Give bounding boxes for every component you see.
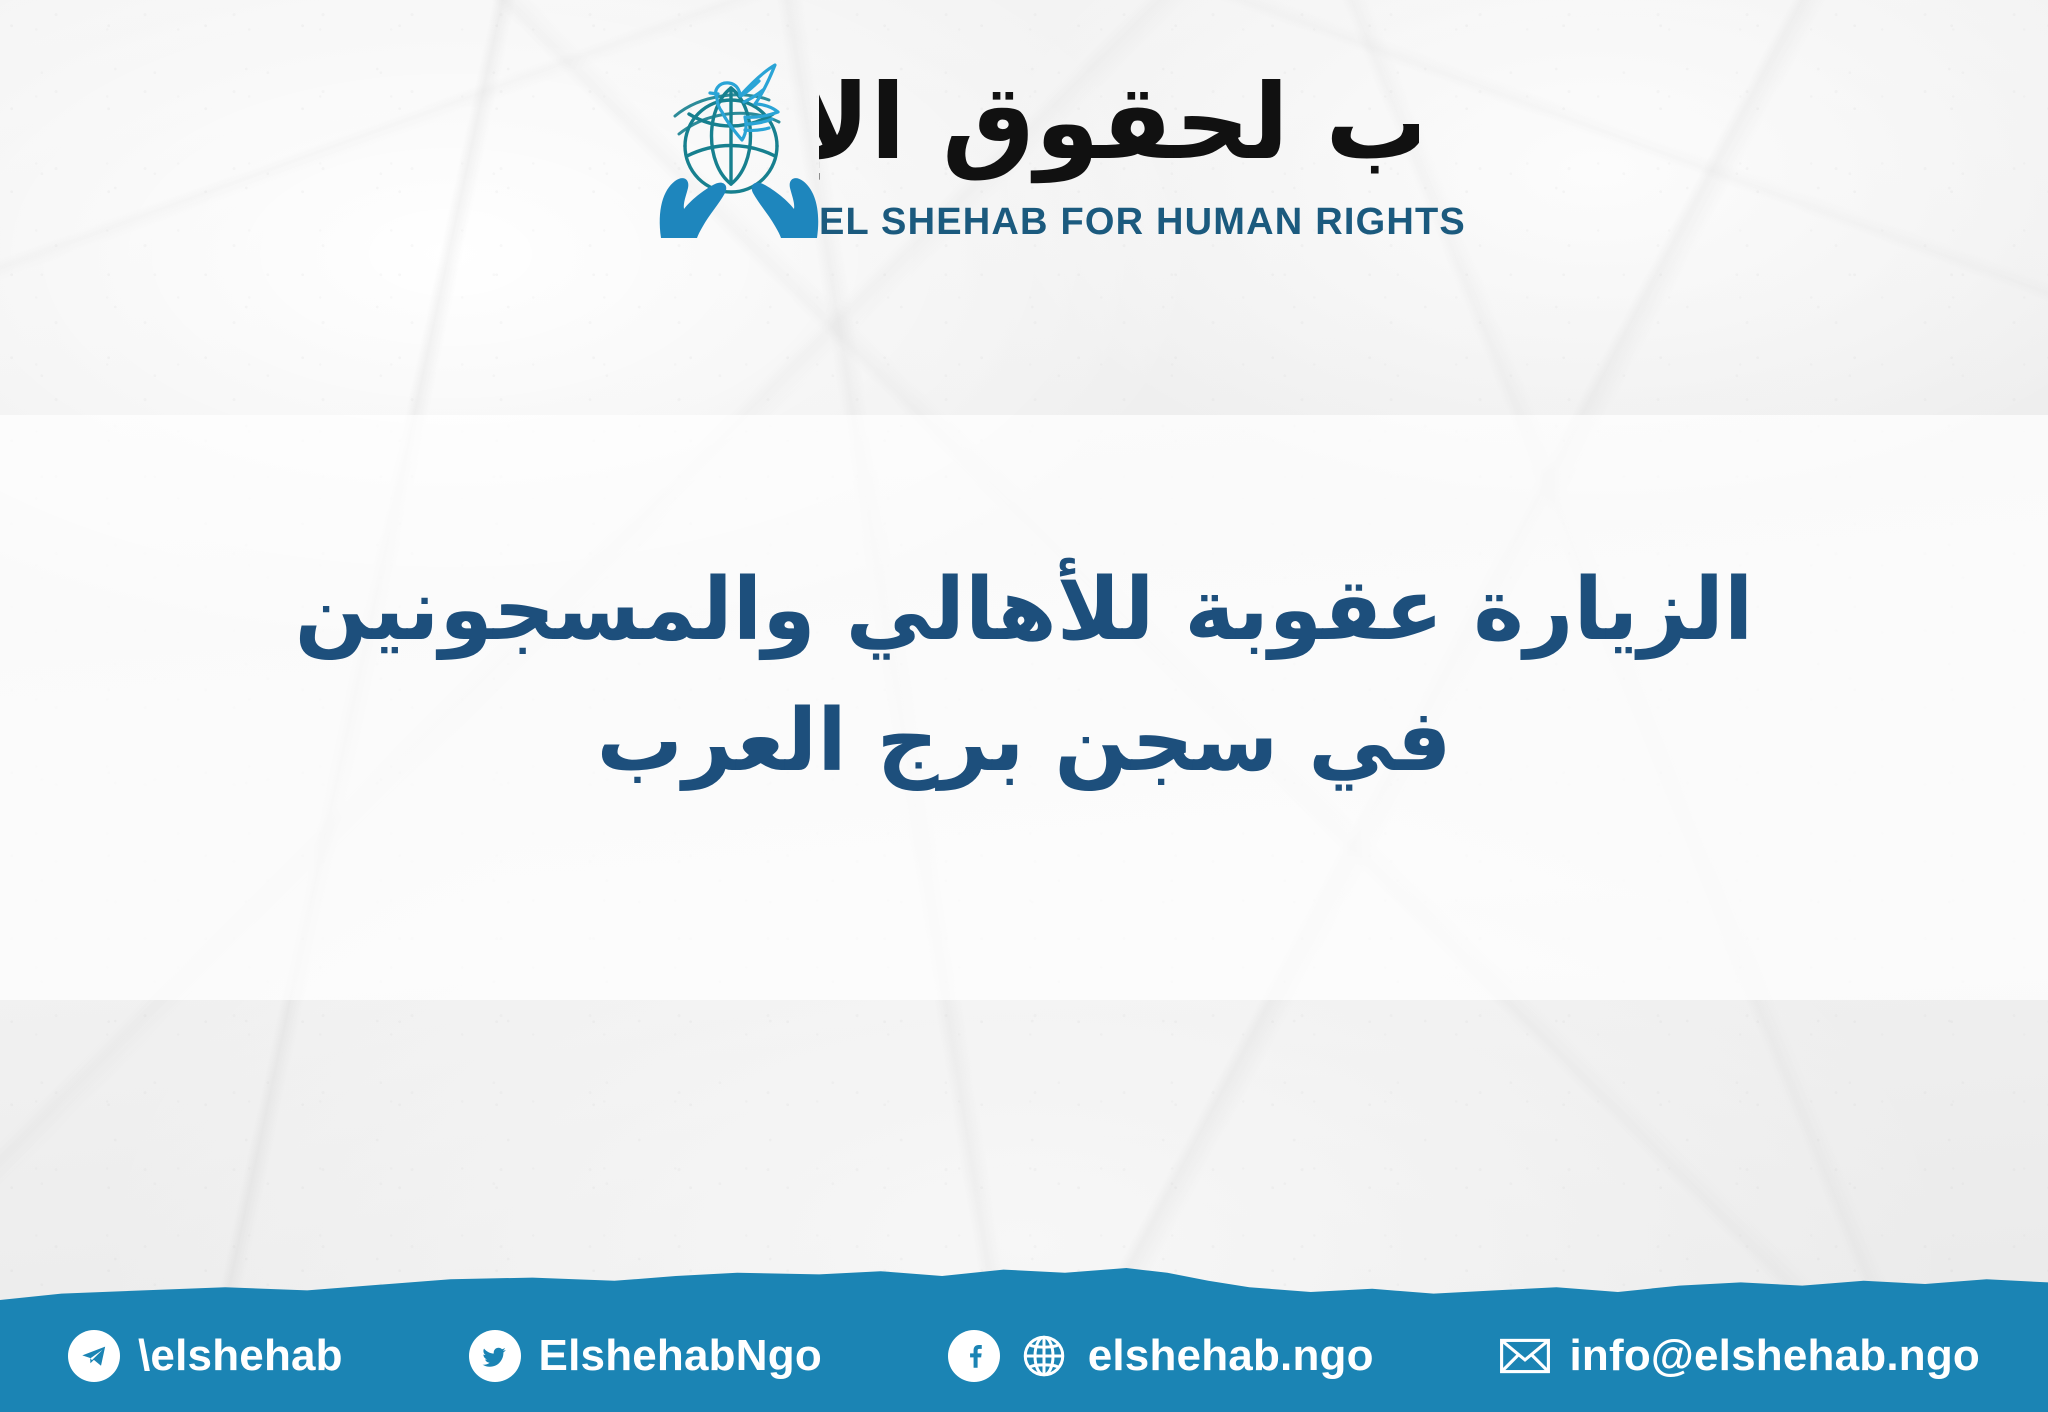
logo-arabic-text: الشهاب لحقوق الإنسان bbox=[819, 61, 1419, 184]
contact-email-label: info@elshehab.ngo bbox=[1569, 1331, 1980, 1381]
logo-english-tagline: EL SHEHAB FOR HUMAN RIGHTS bbox=[819, 201, 1419, 244]
twitter-icon bbox=[469, 1330, 521, 1382]
contact-footer: \elshehab ElshehabNgo bbox=[0, 1252, 2048, 1412]
poster-canvas: الشهاب لحقوق الإنسان EL SHEHAB FOR HUMAN… bbox=[0, 0, 2048, 1412]
poster-header: الشهاب لحقوق الإنسان EL SHEHAB FOR HUMAN… bbox=[0, 34, 2048, 284]
contact-twitter-label: ElshehabNgo bbox=[539, 1331, 822, 1381]
email-icon bbox=[1499, 1330, 1551, 1382]
headline-line-2: في سجن برج العرب bbox=[0, 676, 2048, 807]
contact-website-label: elshehab.ngo bbox=[1088, 1331, 1374, 1381]
contact-telegram[interactable]: \elshehab bbox=[68, 1330, 343, 1382]
organization-logo-lockup: الشهاب لحقوق الإنسان EL SHEHAB FOR HUMAN… bbox=[629, 34, 1419, 284]
dove-globe-hands-logo bbox=[639, 38, 839, 238]
contact-email[interactable]: info@elshehab.ngo bbox=[1499, 1330, 1980, 1382]
logo-wordmark: الشهاب لحقوق الإنسان EL SHEHAB FOR HUMAN… bbox=[819, 40, 1419, 290]
globe-icon bbox=[1018, 1330, 1070, 1382]
facebook-icon bbox=[948, 1330, 1000, 1382]
contact-twitter[interactable]: ElshehabNgo bbox=[469, 1330, 822, 1382]
headline-line-1: الزيارة عقوبة للأهالي والمسجونين bbox=[0, 545, 2048, 676]
logo-arabic-calligraphy: الشهاب لحقوق الإنسان bbox=[819, 40, 1419, 205]
contact-website[interactable]: elshehab.ngo bbox=[948, 1330, 1374, 1382]
contact-telegram-label: \elshehab bbox=[138, 1331, 343, 1381]
contact-row: \elshehab ElshehabNgo bbox=[0, 1300, 2048, 1412]
headline-block: الزيارة عقوبة للأهالي والمسجونين في سجن … bbox=[0, 545, 2048, 806]
telegram-icon bbox=[68, 1330, 120, 1382]
